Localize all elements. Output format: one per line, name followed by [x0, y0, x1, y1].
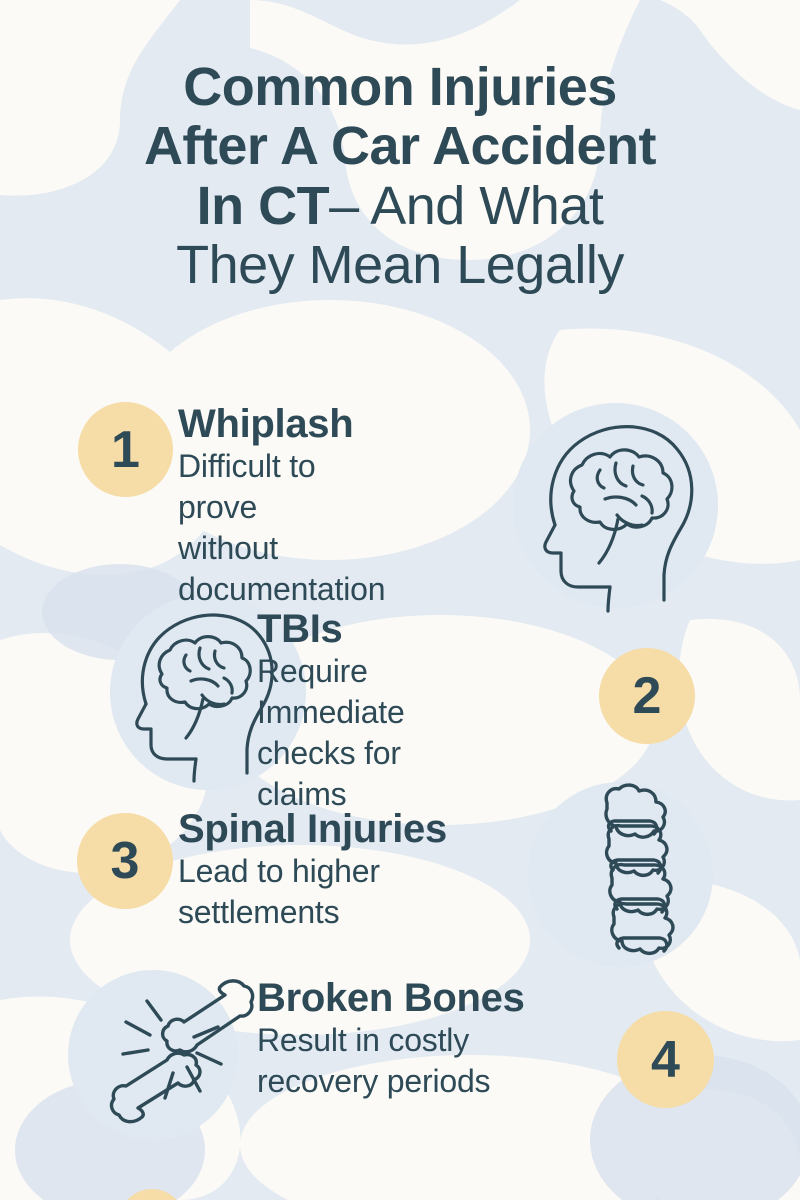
title-line-3: In CT– And What [0, 177, 800, 236]
badge-number-5: 5 [119, 1189, 185, 1200]
list-item-3-title: Spinal Injuries [178, 808, 447, 851]
list-item-1-desc-line-1: Difficult to prove [178, 446, 385, 528]
page-title: Common Injuries After A Car Accident In … [0, 58, 800, 296]
list-item-2-title: TBIs [257, 608, 405, 651]
list-item-3-text: Spinal Injuries Lead to higher settlemen… [178, 808, 447, 933]
list-item-2-desc-line-1: Require Immediate [257, 651, 405, 733]
badge-number-5-label: 5 [119, 1189, 185, 1200]
spine-icon [528, 778, 718, 968]
infographic-poster: Common Injuries After A Car Accident In … [0, 0, 800, 1200]
title-line-4: They Mean Legally [0, 236, 800, 295]
badge-number-4: 4 [617, 1011, 714, 1108]
list-item-2-text: TBIs Require Immediate checks for claims [257, 608, 405, 815]
broken-bone-icon [68, 965, 268, 1140]
list-item-4-text: Broken Bones Result in costly recovery p… [257, 977, 525, 1102]
list-item-3-desc-line-2: settlements [178, 892, 447, 933]
list-item-1-title: Whiplash [178, 403, 385, 446]
list-item-2-desc-line-2: checks for claims [257, 733, 405, 815]
title-line-3-bold: In CT [197, 176, 329, 236]
list-item-4-desc-line-1: Result in costly [257, 1020, 525, 1061]
title-line-2: After A Car Accident [0, 117, 800, 176]
badge-number-3-label: 3 [77, 813, 173, 909]
title-line-1: Common Injuries [0, 58, 800, 117]
badge-number-3: 3 [77, 813, 173, 909]
badge-number-2-label: 2 [599, 648, 695, 744]
list-item-4-desc-line-2: recovery periods [257, 1061, 525, 1102]
list-item-4-title: Broken Bones [257, 977, 525, 1020]
badge-number-4-label: 4 [617, 1011, 714, 1108]
list-item-1-text: Whiplash Difficult to prove without docu… [178, 403, 385, 610]
badge-number-1-label: 1 [78, 402, 173, 497]
badge-number-1: 1 [78, 402, 173, 497]
poster-content: Common Injuries After A Car Accident In … [0, 0, 800, 1200]
title-line-3-light: – And What [329, 176, 603, 236]
list-item-3-desc-line-1: Lead to higher [178, 851, 447, 892]
badge-number-2: 2 [599, 648, 695, 744]
list-item-1-desc-line-2: without documentation [178, 528, 385, 610]
head-brain-icon [505, 395, 725, 620]
